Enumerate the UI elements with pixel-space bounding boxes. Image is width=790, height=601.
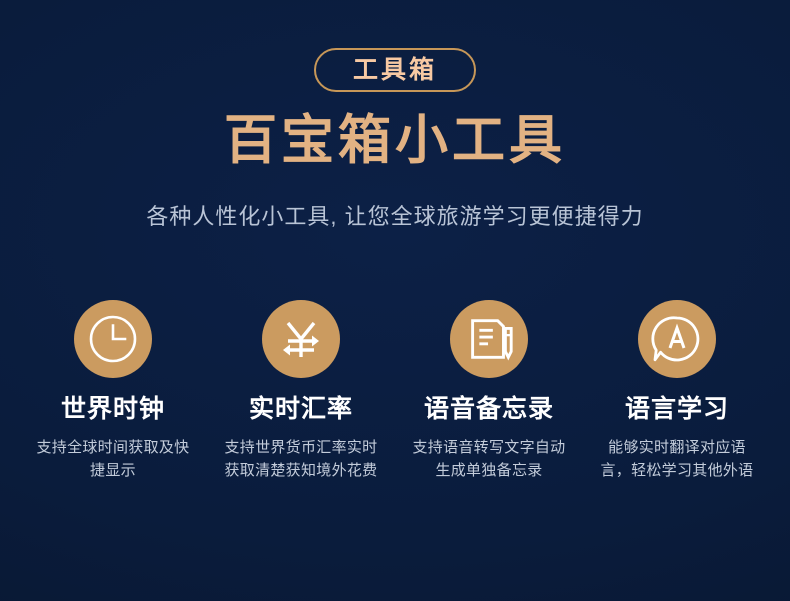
clock-icon [74,300,152,378]
badge-row: 工具箱 [0,48,790,92]
feature-description: 支持全球时间获取及快捷显示 [33,436,193,483]
feature-item-world-clock: 世界时钟 支持全球时间获取及快捷显示 [24,300,202,483]
feature-list: 世界时钟 支持全球时间获取及快捷显示 [24,300,766,483]
feature-description: 支持语音转写文字自动生成单独备忘录 [409,436,569,483]
currency-exchange-icon [262,300,340,378]
promo-page: 工具箱 百宝箱小工具 各种人性化小工具, 让您全球旅游学习更便捷得力 世界时钟 … [0,0,790,601]
feature-title: 世界时钟 [61,394,165,424]
feature-item-voice-memo: 语音备忘录 支持语音转写文字自动生成单独备忘录 [400,300,578,483]
feature-title: 语音备忘录 [424,394,554,424]
speech-bubble-a-icon [638,300,716,378]
feature-item-language-learning: 语言学习 能够实时翻译对应语言，轻松学习其他外语 [588,300,766,483]
section-badge: 工具箱 [314,48,476,92]
page-subtitle: 各种人性化小工具, 让您全球旅游学习更便捷得力 [0,203,790,232]
feature-item-exchange-rate: 实时汇率 支持世界货币汇率实时获取清楚获知境外花费 [212,300,390,483]
feature-title: 实时汇率 [249,394,353,424]
feature-description: 能够实时翻译对应语言，轻松学习其他外语 [597,436,757,483]
note-pencil-icon [450,300,528,378]
feature-description: 支持世界货币汇率实时获取清楚获知境外花费 [221,436,381,483]
feature-title: 语言学习 [625,394,729,424]
page-title: 百宝箱小工具 [0,112,790,170]
